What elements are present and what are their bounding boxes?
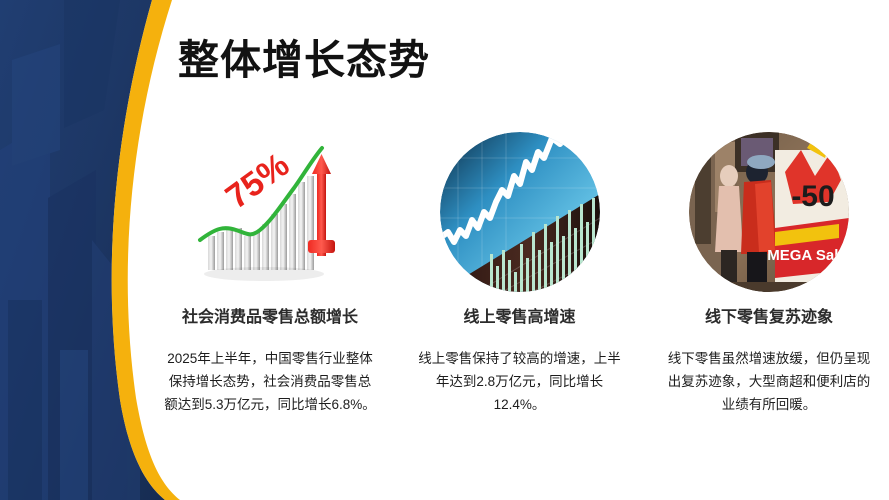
stock-chart-svg: [440, 132, 600, 292]
navy-texture-facets: [0, 0, 140, 500]
discount-label: -50: [791, 180, 834, 213]
slide-root: 整体增长态势: [0, 0, 889, 500]
column-heading: 线下零售复苏迹象: [705, 308, 833, 329]
online-retail-stock-chart-image: [440, 132, 600, 292]
page-title: 整体增长态势: [178, 36, 430, 85]
mega-sale-label: MEGA Sale: [767, 247, 846, 264]
offline-retail-store-image: -50 MEGA Sale: [689, 132, 849, 292]
column-heading: 线上零售高增速: [463, 308, 575, 329]
column-offline-retail: -50 MEGA Sale 线下零售复苏迹象 线下零售虽然增速放缓，但仍呈现出复…: [649, 132, 889, 416]
store-photo-svg: -50 MEGA Sale: [689, 132, 849, 292]
sale-poster: -50 MEGA Sale: [767, 136, 849, 288]
content-columns: 75% 社会消费品零售总额增长 2025年上半年，中国零售行业整体保持增长态势，…: [150, 132, 889, 462]
column-body-text: 线下零售虽然增速放缓，但仍呈现出复苏迹象，大型商超和便利店的业绩有所回暖。: [663, 347, 875, 417]
column-body-text: 2025年上半年，中国零售行业整体保持增长态势，社会消费品零售总额达到5.3万亿…: [164, 347, 376, 417]
column-body-text: 线上零售保持了较高的增速，上半年达到2.8万亿元，同比增长12.4%。: [416, 347, 624, 417]
column-online-retail: 线上零售高增速 线上零售保持了较高的增速，上半年达到2.8万亿元，同比增长12.…: [400, 132, 640, 416]
growth-bar-chart-svg: 75%: [190, 132, 350, 292]
growth-bar-chart-image: 75%: [190, 132, 350, 292]
navy-curved-panel: [0, 0, 165, 500]
column-retail-total: 75% 社会消费品零售总额增长 2025年上半年，中国零售行业整体保持增长态势，…: [150, 132, 390, 416]
column-heading: 社会消费品零售总额增长: [182, 308, 358, 329]
